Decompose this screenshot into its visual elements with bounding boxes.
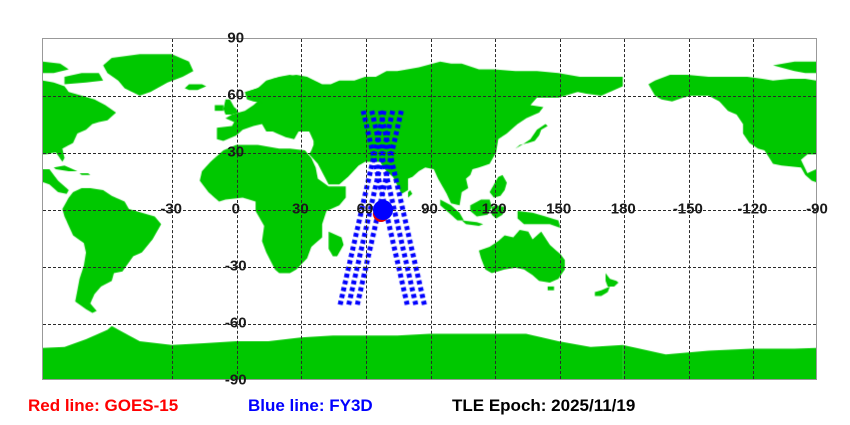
legend-blue-line-fy3d: Blue line: FY3D (248, 392, 373, 420)
legend-tle-epoch: TLE Epoch: 2025/11/19 (452, 392, 635, 420)
latitude-tick-label: 60 (227, 88, 244, 103)
latitude-tick-label: -30 (225, 259, 247, 274)
longitude-tick-label: 0 (232, 202, 240, 217)
longitude-tick-label: -120 (737, 202, 767, 217)
longitude-tick-label: 90 (421, 202, 438, 217)
longitude-tick-label: -90 (806, 202, 828, 217)
latitude-tick-label: -90 (225, 373, 247, 388)
longitude-tick-label: 30 (292, 202, 309, 217)
longitude-tick-label: 120 (482, 202, 507, 217)
longitude-tick-label: 60 (357, 202, 374, 217)
latitude-tick-label: 30 (227, 145, 244, 160)
map-legend: Red line: GOES-15 Blue line: FY3D TLE Ep… (0, 392, 850, 420)
longitude-tick-label: 180 (611, 202, 636, 217)
longitude-tick-label: 150 (546, 202, 571, 217)
latitude-tick-label: -60 (225, 316, 247, 331)
longitude-tick-label: -150 (673, 202, 703, 217)
satellite-marker-fy3d (373, 200, 393, 220)
latitude-tick-label: 90 (227, 31, 244, 46)
longitude-tick-label: -30 (160, 202, 182, 217)
satellite-ground-track-page: -300306090120150180-150-120-90-60906030-… (0, 0, 850, 425)
legend-red-line-goes15: Red line: GOES-15 (28, 392, 178, 420)
